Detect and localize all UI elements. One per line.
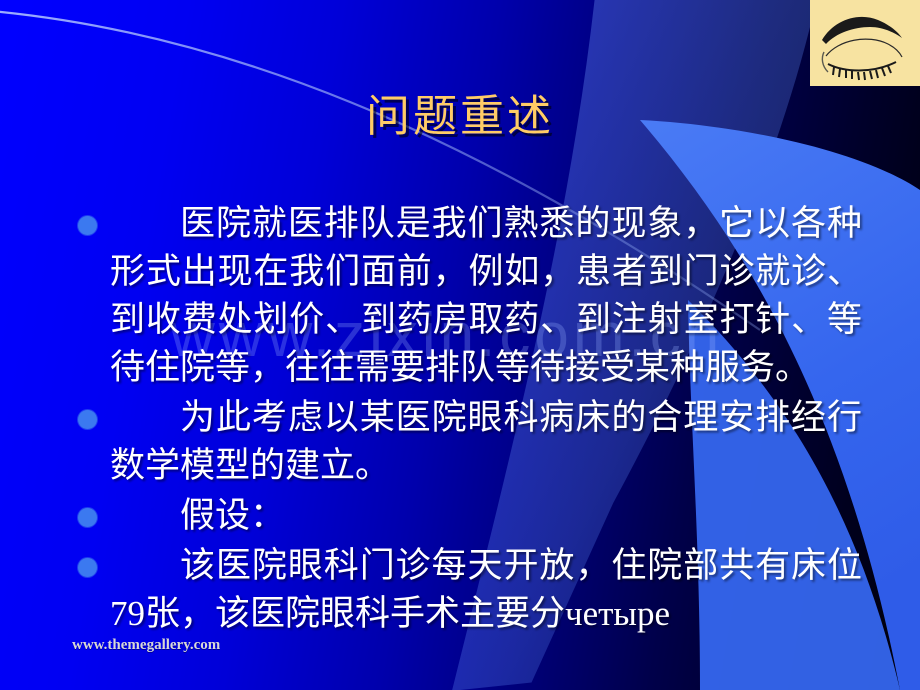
bullet-point-icon (78, 508, 97, 527)
paragraph-text: 该医院眼科门诊每天开放，住院部共有床位79张，该医院眼科手术主要分четыре (110, 542, 862, 638)
bullet-point-icon (78, 410, 97, 429)
bullet-paragraph: 该医院眼科门诊每天开放，住院部共有床位79张，该医院眼科手术主要分четыре (72, 542, 862, 638)
presentation-slide: www.zixin.com.cn www.themegallery.com (0, 0, 920, 690)
bullet-point-icon (78, 216, 97, 235)
bullet-paragraph: 为此考虑以某医院眼科病床的合理安排经行数学模型的建立。 (72, 394, 862, 490)
paragraph-text: 假设： (110, 492, 862, 540)
page-title: 问题重述 (0, 94, 920, 140)
bullet-paragraph: 医院就医排队是我们熟悉的现象，它以各种形式出现在我们面前，例如，患者到门诊就诊、… (72, 200, 862, 392)
corner-watermark: www.themegallery.com (72, 637, 220, 654)
eye-logo (810, 0, 920, 86)
paragraph-text: 医院就医排队是我们熟悉的现象，它以各种形式出现在我们面前，例如，患者到门诊就诊、… (110, 200, 862, 392)
slide-body: 医院就医排队是我们熟悉的现象，它以各种形式出现在我们面前，例如，患者到门诊就诊、… (72, 200, 862, 639)
paragraph-text: 为此考虑以某医院眼科病床的合理安排经行数学模型的建立。 (110, 394, 862, 490)
bullet-paragraph: 假设： (72, 492, 862, 540)
bullet-point-icon (78, 558, 97, 577)
